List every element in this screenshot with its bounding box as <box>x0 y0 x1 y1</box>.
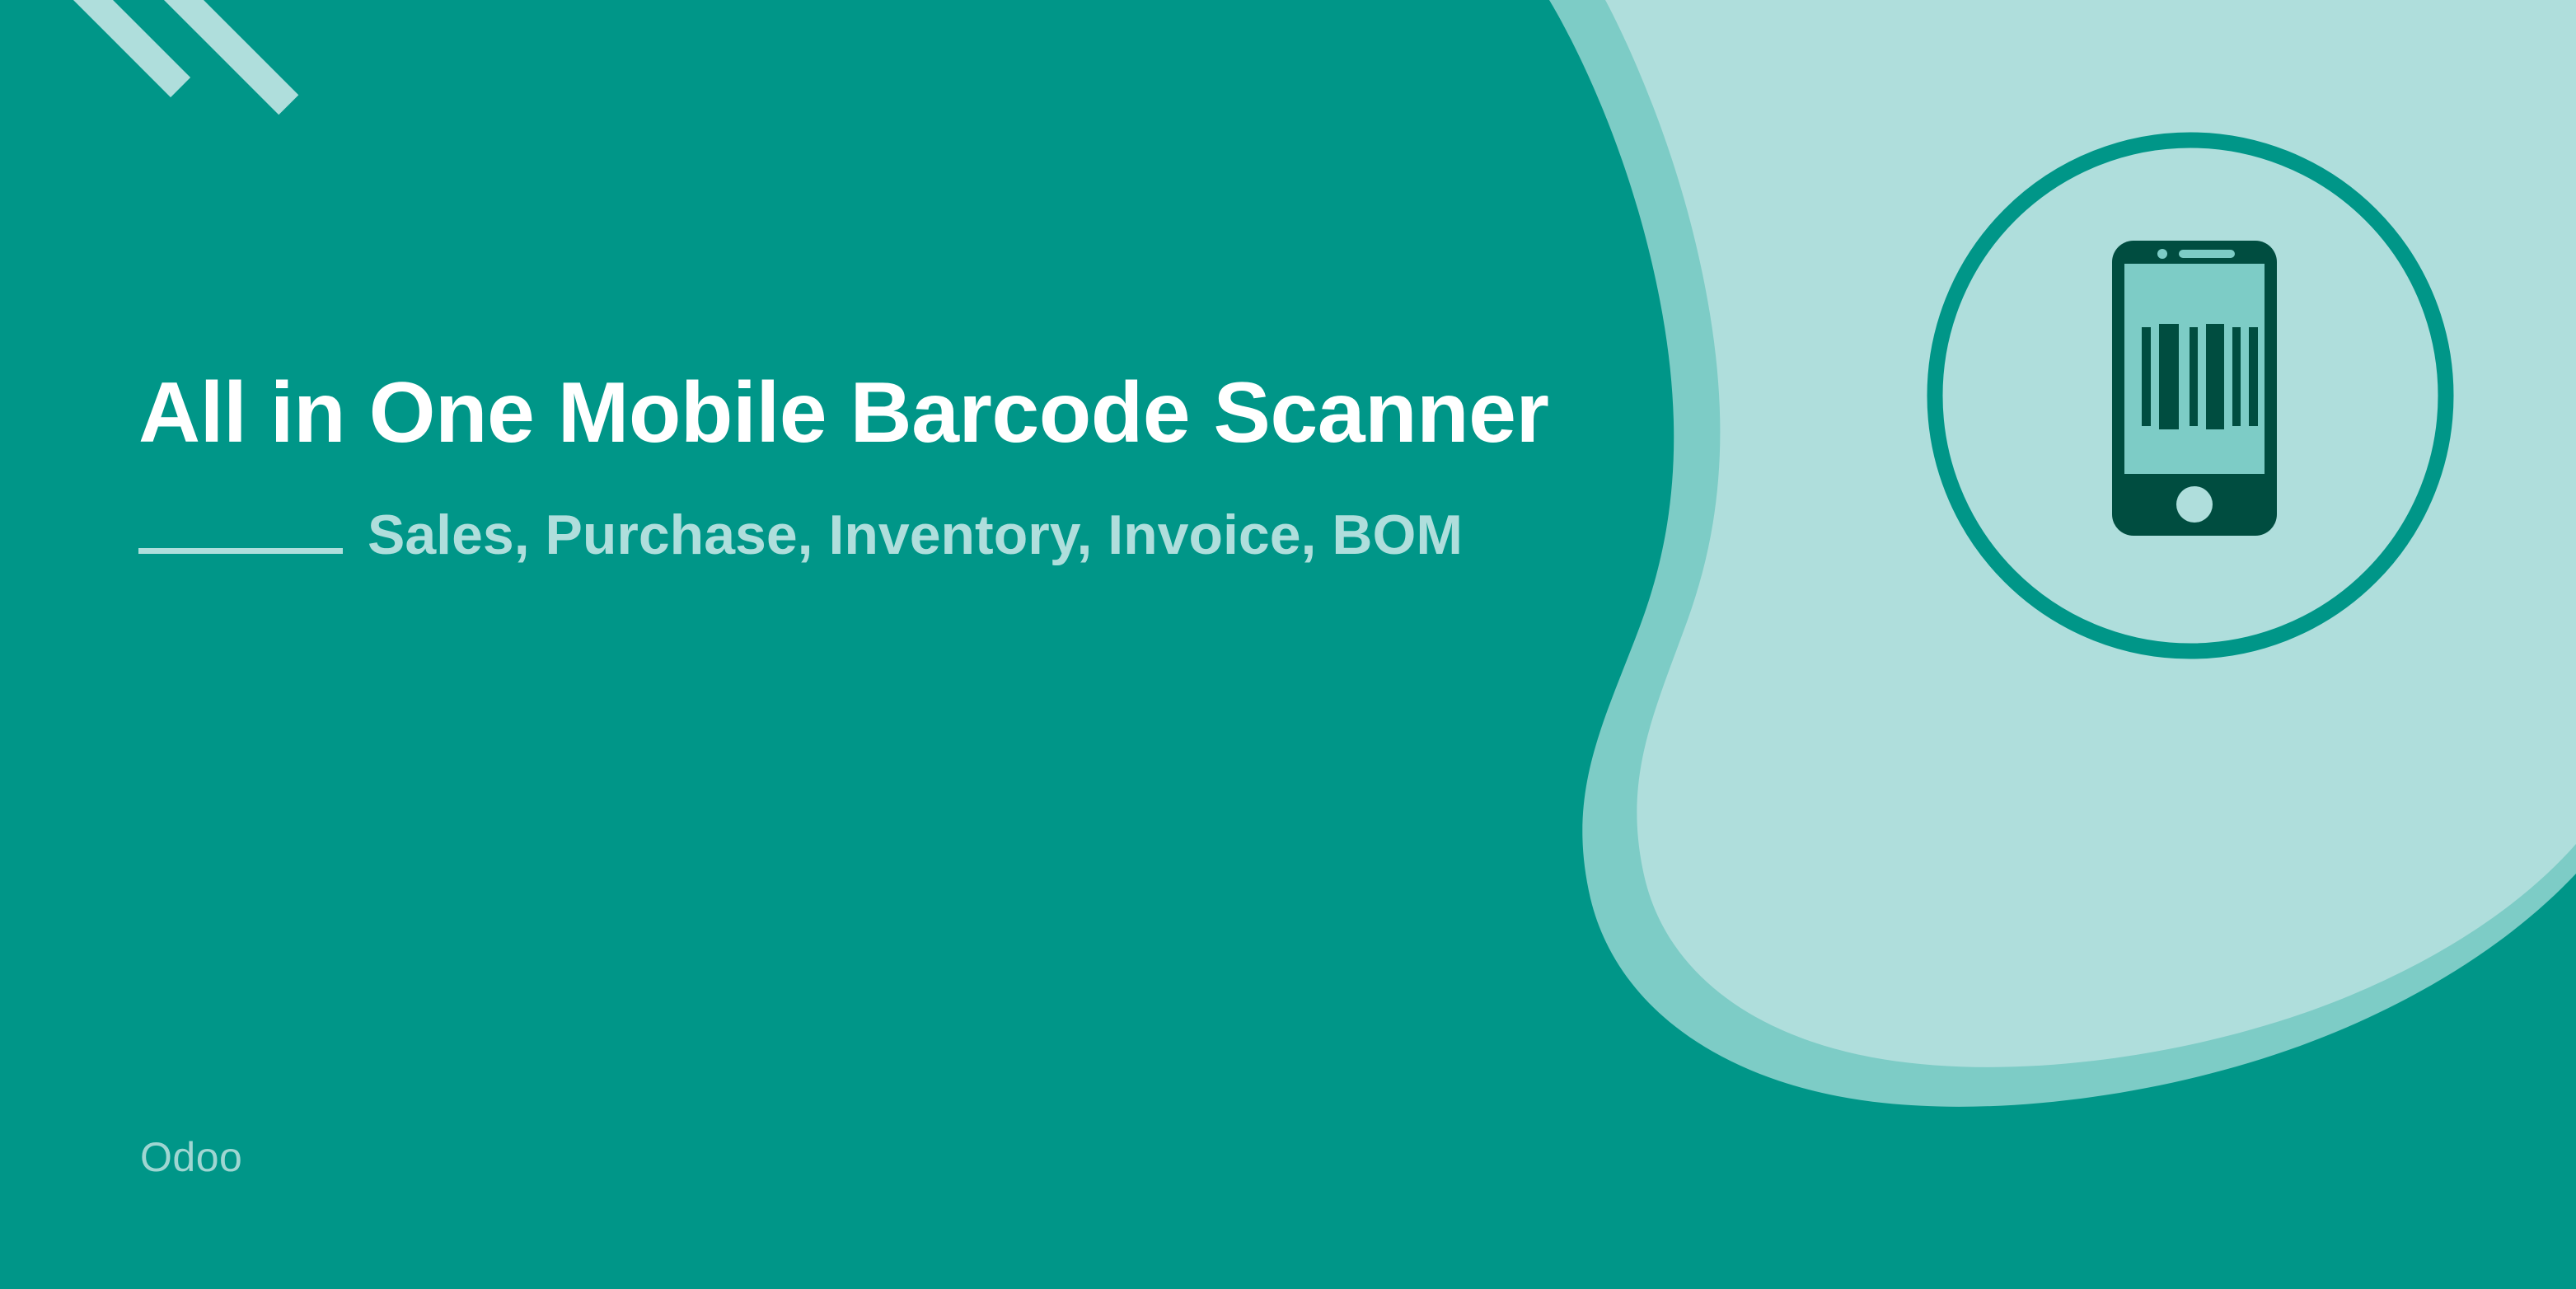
barcode-bar <box>2190 327 2198 426</box>
mobile-barcode-scanner-icon <box>2112 241 2277 536</box>
phone-camera-dot <box>2157 249 2167 259</box>
page-subtitle: Sales, Purchase, Inventory, Invoice, BOM <box>368 500 1463 570</box>
barcode-bar <box>2159 324 2179 429</box>
background-artwork <box>0 0 2576 1289</box>
phone-home-button <box>2176 486 2213 523</box>
horizontal-rule-icon <box>138 548 343 554</box>
title-block: All in One Mobile Barcode Scanner Sales,… <box>138 363 1754 570</box>
barcode-bar <box>2249 327 2258 426</box>
barcode-bar <box>2206 324 2224 429</box>
brand-label: Odoo <box>140 1133 242 1181</box>
page-title: All in One Mobile Barcode Scanner <box>138 363 1704 464</box>
phone-speaker <box>2179 250 2235 258</box>
barcode-bar <box>2232 327 2241 426</box>
barcode-bar <box>2142 327 2151 426</box>
slide-canvas: All in One Mobile Barcode Scanner Sales,… <box>0 0 2576 1289</box>
subtitle-row: Sales, Purchase, Inventory, Invoice, BOM <box>138 500 1754 570</box>
